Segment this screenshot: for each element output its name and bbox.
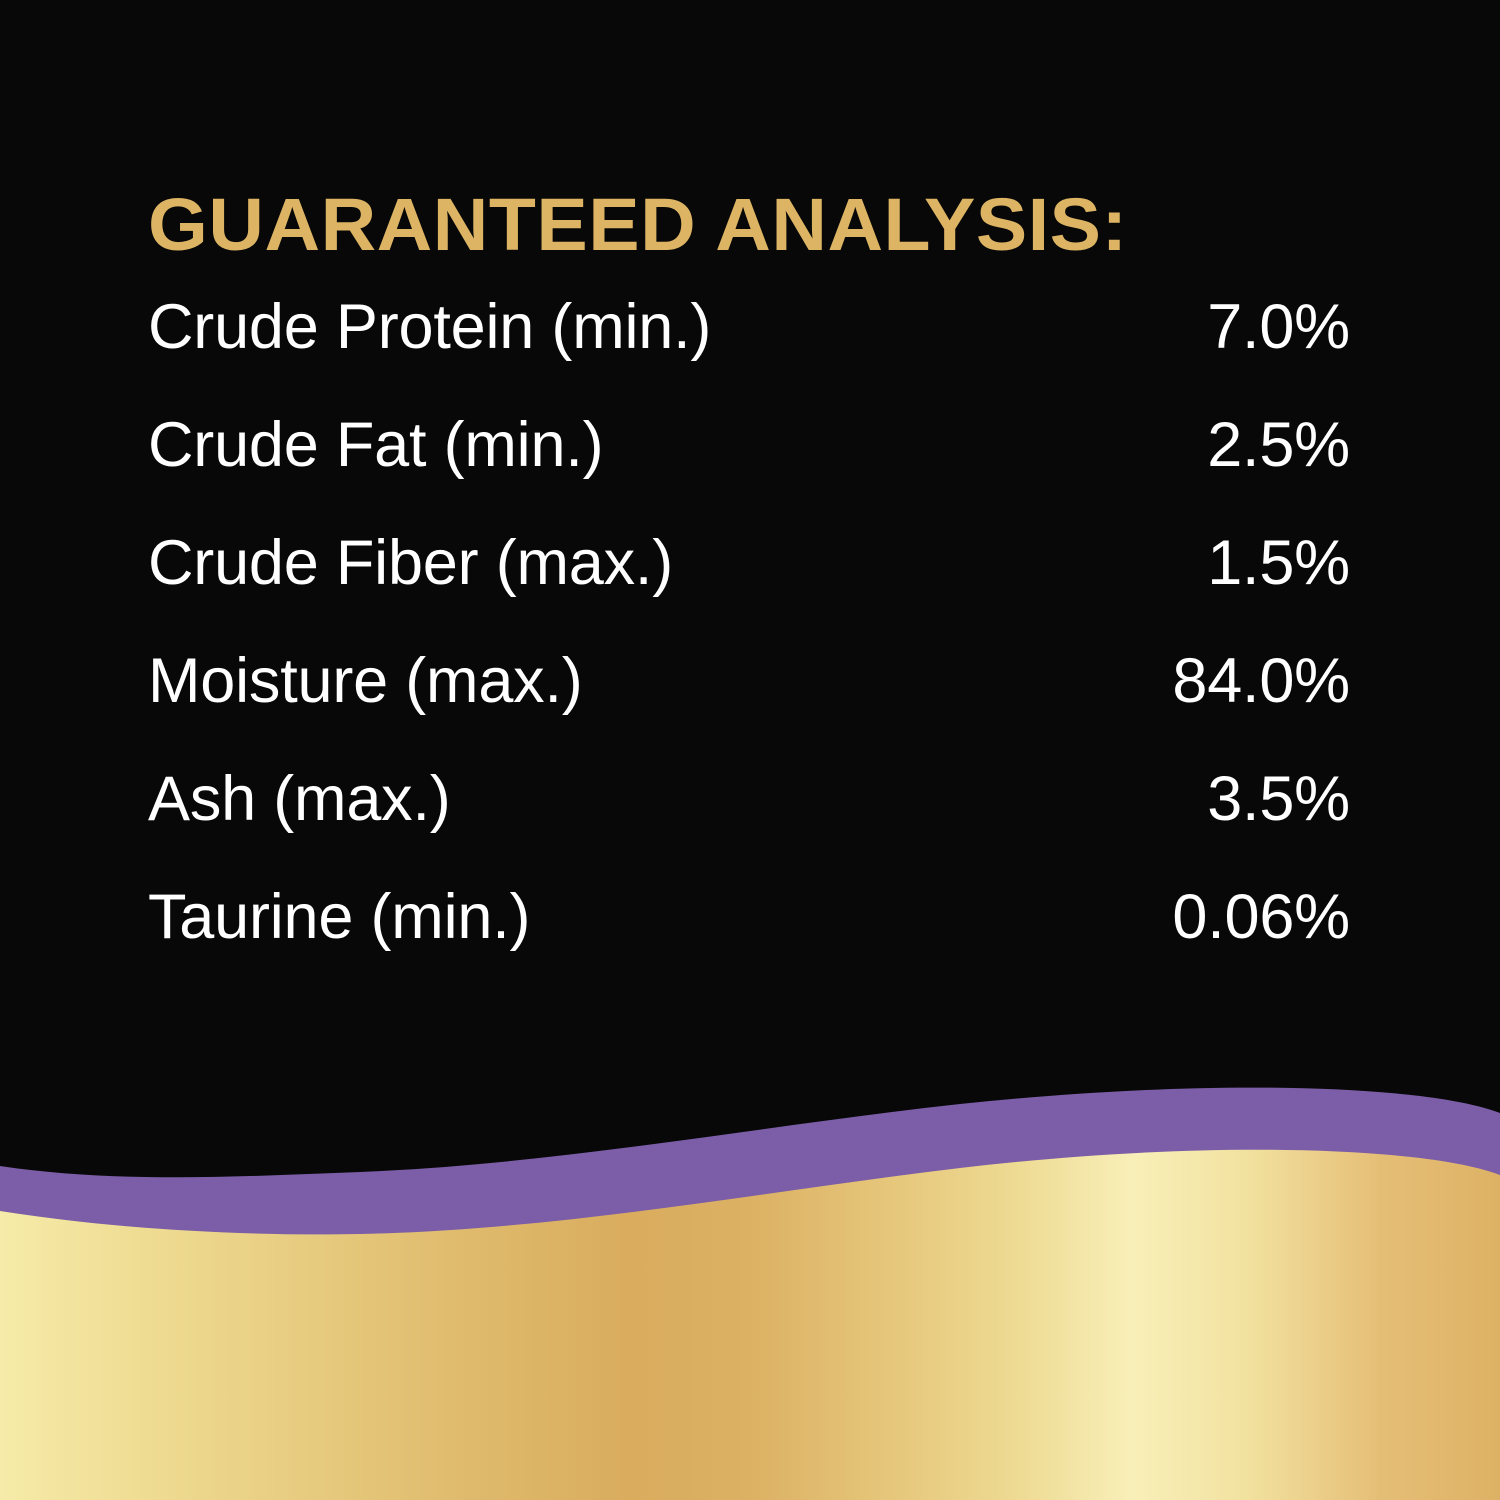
nutrient-label: Crude Fiber (max.) — [148, 504, 673, 622]
dot-leader: ........................................… — [451, 757, 1208, 820]
table-row: Ash (max.) .............................… — [148, 740, 1350, 858]
dot-leader-dots: ........................................… — [711, 285, 1207, 348]
dot-leader: ........................................… — [530, 875, 1172, 938]
dot-leader: ........................................… — [583, 639, 1173, 702]
nutrient-value: 7.0% — [1207, 268, 1350, 386]
dot-leader: ........................................… — [603, 403, 1207, 466]
nutrient-value: 3.5% — [1207, 740, 1350, 858]
dot-leader-dots: ........................................… — [530, 875, 1172, 938]
nutrient-label: Crude Fat (min.) — [148, 386, 603, 504]
table-row: Crude Protein (min.) ...................… — [148, 268, 1350, 386]
nutrient-value: 84.0% — [1172, 622, 1350, 740]
dot-leader-dots: ........................................… — [603, 403, 1207, 466]
dot-leader: ........................................… — [673, 521, 1207, 584]
table-row: Crude Fiber (max.) .....................… — [148, 504, 1350, 622]
page-title: GUARANTEED ANALYSIS: — [148, 188, 1128, 262]
table-row: Taurine (min.) .........................… — [148, 858, 1350, 976]
dot-leader-dots: ........................................… — [583, 639, 1173, 702]
nutrient-value: 2.5% — [1207, 386, 1350, 504]
nutrient-label: Crude Protein (min.) — [148, 268, 711, 386]
dot-leader: ........................................… — [711, 285, 1207, 348]
guaranteed-analysis-panel: GUARANTEED ANALYSIS: Crude Protein (min.… — [0, 0, 1500, 1500]
nutrient-value: 1.5% — [1207, 504, 1350, 622]
nutrient-value: 0.06% — [1172, 858, 1350, 976]
dot-leader-dots: ........................................… — [451, 757, 1208, 820]
table-row: Moisture (max.) ........................… — [148, 622, 1350, 740]
decorative-wave-graphic — [0, 1080, 1500, 1500]
nutrient-label: Ash (max.) — [148, 740, 451, 858]
dot-leader-dots: ........................................… — [673, 521, 1207, 584]
analysis-table: Crude Protein (min.) ...................… — [148, 268, 1350, 976]
nutrient-label: Moisture (max.) — [148, 622, 583, 740]
nutrient-label: Taurine (min.) — [148, 858, 530, 976]
table-row: Crude Fat (min.) .......................… — [148, 386, 1350, 504]
